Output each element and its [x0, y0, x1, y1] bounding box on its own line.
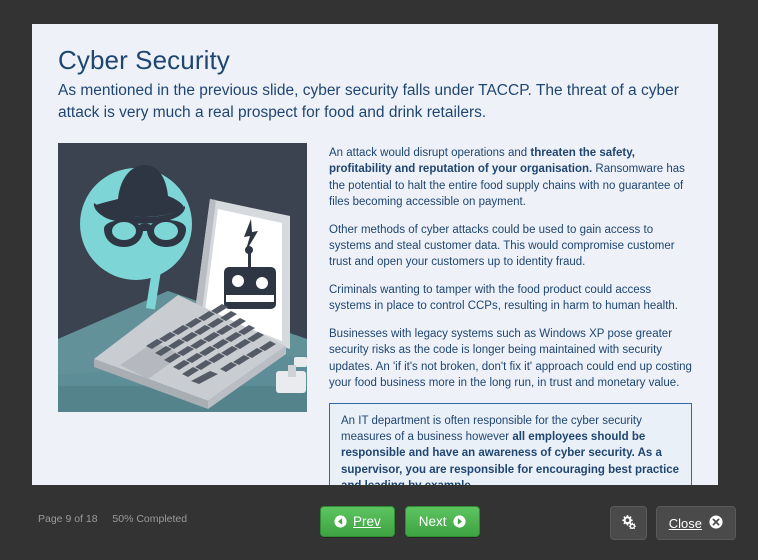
illustration-container	[58, 143, 307, 412]
paragraph-4: Businesses with legacy systems such as W…	[329, 326, 692, 392]
player-actions: Close	[610, 506, 736, 540]
slide-body: An attack would disrupt operations and t…	[58, 143, 692, 485]
paragraph-3: Criminals wanting to tamper with the foo…	[329, 282, 692, 315]
navigation-buttons: Prev Next	[320, 506, 480, 537]
prev-button[interactable]: Prev	[320, 506, 395, 537]
status-text: Page 9 of 18 50% Completed	[38, 513, 187, 525]
page-title: Cyber Security	[58, 46, 692, 76]
settings-button[interactable]	[610, 506, 647, 540]
cyber-security-illustration	[58, 143, 307, 412]
paragraph-2: Other methods of cyber attacks could be …	[329, 222, 692, 271]
slide-content: Cyber Security As mentioned in the previ…	[32, 24, 718, 485]
arrow-right-circle-icon	[453, 515, 466, 528]
slide-text-column: An attack would disrupt operations and t…	[307, 143, 692, 485]
paragraph-1: An attack would disrupt operations and t…	[329, 145, 692, 211]
player-toolbar: Page 9 of 18 50% Completed Prev Next	[0, 488, 758, 560]
next-button-label: Next	[419, 514, 447, 529]
callout-text: An IT department is often responsible fo…	[341, 413, 680, 485]
next-button[interactable]: Next	[405, 506, 480, 537]
close-button[interactable]: Close	[656, 506, 736, 540]
callout-box: An IT department is often responsible fo…	[329, 403, 692, 485]
progress-status: 50% Completed	[112, 513, 187, 525]
arrow-left-circle-icon	[334, 515, 347, 528]
gears-icon	[621, 514, 636, 532]
close-circle-icon	[709, 515, 723, 532]
course-player: Cyber Security As mentioned in the previ…	[0, 0, 758, 560]
close-button-label: Close	[669, 516, 702, 531]
prev-button-label: Prev	[353, 514, 381, 529]
slide-intro-text: As mentioned in the previous slide, cybe…	[58, 80, 692, 125]
page-status: Page 9 of 18	[38, 513, 98, 525]
